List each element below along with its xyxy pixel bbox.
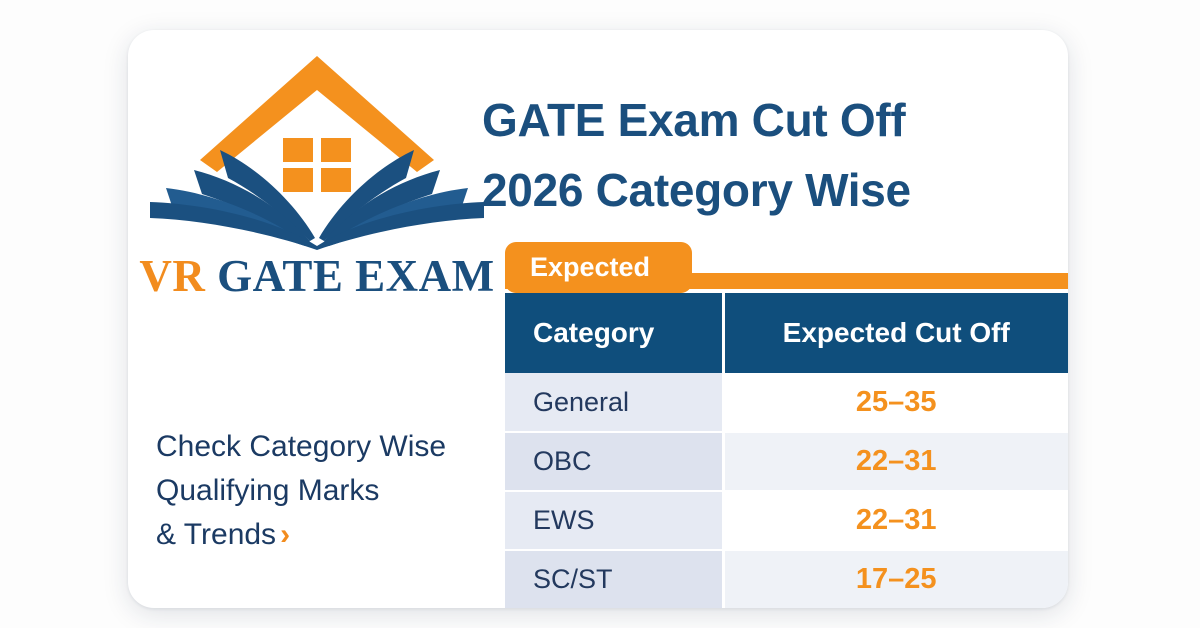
cell-category: EWS — [505, 491, 723, 550]
expected-badge: Expected — [505, 242, 692, 293]
content-card: VR GATE EXAM GATE Exam Cut Off 2026 Cate… — [128, 30, 1068, 608]
tagline-line1: Check Category Wise — [156, 425, 516, 469]
brand-logo: VR GATE EXAM — [128, 42, 506, 332]
tagline-line3-wrap[interactable]: & Trends› — [156, 513, 516, 557]
tagline-line2: Qualifying Marks — [156, 469, 516, 513]
chevron-right-icon[interactable]: › — [280, 518, 290, 551]
poster-canvas: VR GATE EXAM GATE Exam Cut Off 2026 Cate… — [0, 0, 1200, 628]
page-title-line1: GATE Exam Cut Off — [482, 86, 1062, 156]
table-header-row: Category Expected Cut Off — [505, 293, 1068, 373]
brand-wordmark: VR GATE EXAM — [128, 250, 506, 302]
table-row: General 25–35 — [505, 373, 1068, 432]
column-header-category: Category — [505, 293, 723, 373]
table-row: OBC 22–31 — [505, 432, 1068, 491]
cell-category: SC/ST — [505, 550, 723, 608]
cell-cutoff: 25–35 — [723, 373, 1068, 432]
brand-prefix: VR — [139, 251, 205, 301]
cell-cutoff: 22–31 — [723, 432, 1068, 491]
brand-name: GATE EXAM — [217, 251, 494, 301]
tagline: Check Category Wise Qualifying Marks & T… — [156, 425, 516, 557]
cell-cutoff: 22–31 — [723, 491, 1068, 550]
table-row: SC/ST 17–25 — [505, 550, 1068, 608]
cutoff-table: Category Expected Cut Off General 25–35 … — [505, 293, 1068, 608]
page-title-line2: 2026 Category Wise — [482, 156, 1062, 226]
table-row: EWS 22–31 — [505, 491, 1068, 550]
cutoff-table-block: Expected Category Expected Cut Off Gener… — [505, 242, 1068, 608]
cell-category: OBC — [505, 432, 723, 491]
cell-cutoff: 17–25 — [723, 550, 1068, 608]
page-title: GATE Exam Cut Off 2026 Category Wise — [482, 86, 1062, 226]
house-book-logo-icon — [128, 42, 506, 252]
cell-category: General — [505, 373, 723, 432]
tagline-line3: & Trends — [156, 518, 276, 551]
column-header-cutoff: Expected Cut Off — [723, 293, 1068, 373]
